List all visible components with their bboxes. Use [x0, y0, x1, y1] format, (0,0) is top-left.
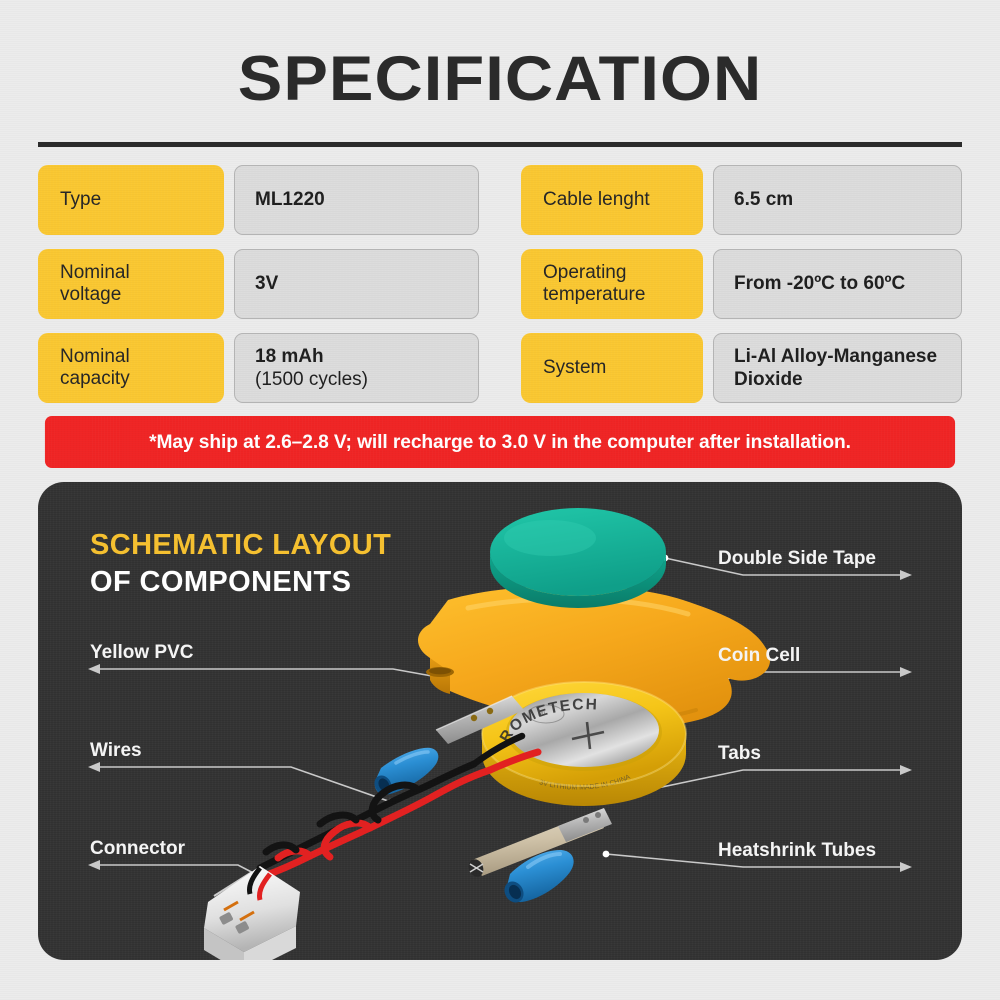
spec-value-operating-temperature: From -20ºC to 60ºC — [713, 249, 962, 319]
callout-label-double-side-tape: Double Side Tape — [718, 548, 876, 570]
spec-value-subtext: (1500 cycles) — [255, 368, 458, 391]
infographic-page: SPECIFICATION Type ML1220 Cable lenght 6… — [0, 0, 1000, 1000]
spec-value-text: From -20ºC to 60ºC — [734, 272, 941, 295]
spec-label-text: Type — [60, 189, 101, 211]
spec-value-text: 3V — [255, 272, 458, 295]
spec-row-system: System Li-Al Alloy-Manganese Dioxide — [521, 333, 962, 403]
spec-value-text: ML1220 — [255, 188, 458, 211]
notice-text: *May ship at 2.6–2.8 V; will recharge to… — [149, 431, 851, 454]
callout-label-coin-cell: Coin Cell — [718, 645, 800, 667]
page-title: SPECIFICATION — [0, 48, 1000, 111]
spec-row-type: Type ML1220 — [38, 165, 479, 235]
callout-label-yellow-pvc: Yellow PVC — [90, 642, 193, 664]
shipping-voltage-notice: *May ship at 2.6–2.8 V; will recharge to… — [45, 416, 955, 468]
spec-value-cable-length: 6.5 cm — [713, 165, 962, 235]
title-divider — [38, 142, 962, 147]
specification-table: Type ML1220 Cable lenght 6.5 cm Nominal … — [38, 165, 962, 403]
spec-row-nominal-capacity: Nominal capacity 18 mAh (1500 cycles) — [38, 333, 479, 403]
spec-value-nominal-capacity: 18 mAh (1500 cycles) — [234, 333, 479, 403]
spec-value-type: ML1220 — [234, 165, 479, 235]
spec-label-nominal-capacity: Nominal capacity — [38, 333, 224, 403]
spec-value-text: Li-Al Alloy-Manganese — [734, 345, 941, 368]
spec-row-operating-temperature: Operating temperature From -20ºC to 60ºC — [521, 249, 962, 319]
double-side-tape — [490, 508, 666, 608]
callout-label-heatshrink-tubes: Heatshrink Tubes — [718, 840, 876, 862]
spec-label-system: System — [521, 333, 703, 403]
spec-label-text: Operating temperature — [543, 262, 645, 307]
jst-connector — [204, 866, 300, 960]
callout-label-wires: Wires — [90, 740, 142, 762]
spec-value-subtext: Dioxide — [734, 368, 941, 391]
spec-label-text: Cable lenght — [543, 189, 650, 211]
spec-value-text: 18 mAh — [255, 345, 458, 368]
spec-label-text: System — [543, 357, 606, 379]
spec-value-system: Li-Al Alloy-Manganese Dioxide — [713, 333, 962, 403]
schematic-panel: SCHEMATIC LAYOUT OF COMPONENTS — [38, 482, 962, 960]
spec-label-type: Type — [38, 165, 224, 235]
spec-label-cable-length: Cable lenght — [521, 165, 703, 235]
callout-label-connector: Connector — [90, 838, 185, 860]
spec-label-nominal-voltage: Nominal voltage — [38, 249, 224, 319]
spec-label-text: Nominal capacity — [60, 346, 130, 391]
spec-row-cable-length: Cable lenght 6.5 cm — [521, 165, 962, 235]
spec-label-text: Nominal voltage — [60, 262, 130, 307]
callout-label-tabs: Tabs — [718, 743, 761, 765]
spec-value-nominal-voltage: 3V — [234, 249, 479, 319]
spec-value-text: 6.5 cm — [734, 188, 941, 211]
spec-label-operating-temperature: Operating temperature — [521, 249, 703, 319]
heatshrink-cap-upper — [371, 748, 438, 798]
spec-row-nominal-voltage: Nominal voltage 3V — [38, 249, 479, 319]
